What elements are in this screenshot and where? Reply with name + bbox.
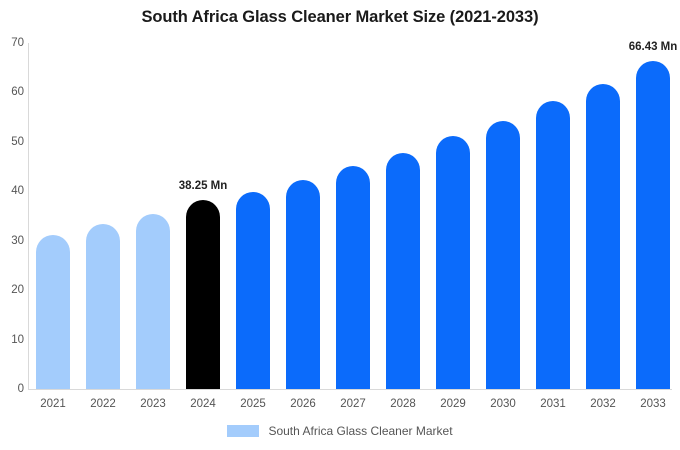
- bar-2028[interactable]: [386, 153, 420, 389]
- bar-2021[interactable]: [36, 235, 70, 389]
- x-axis-tick-label: 2029: [428, 398, 478, 410]
- y-axis-tick-label: 10: [0, 334, 24, 346]
- x-axis-tick-label: 2022: [78, 398, 128, 410]
- y-axis-tick-label: 70: [0, 37, 24, 49]
- chart-title: South Africa Glass Cleaner Market Size (…: [0, 8, 680, 27]
- x-axis-tick-label: 2033: [628, 398, 678, 410]
- x-axis-tick-label: 2024: [178, 398, 228, 410]
- bar-value-label-2024: 38.25 Mn: [163, 180, 243, 192]
- x-axis-tick-label: 2021: [28, 398, 78, 410]
- y-axis-tick-label: 60: [0, 86, 24, 98]
- bar-2026[interactable]: [286, 180, 320, 389]
- legend-swatch-icon: [227, 425, 259, 437]
- y-axis-tick-label: 20: [0, 284, 24, 296]
- x-axis-tick-label: 2023: [128, 398, 178, 410]
- y-axis-tick-label: 40: [0, 185, 24, 197]
- x-axis-tick-label: 2028: [378, 398, 428, 410]
- bar-2027[interactable]: [336, 166, 370, 389]
- y-axis: 010203040506070: [0, 0, 24, 450]
- bar-2029[interactable]: [436, 136, 470, 389]
- bar-value-label-2033: 66.43 Mn: [613, 41, 680, 53]
- y-axis-tick-label: 50: [0, 136, 24, 148]
- bar-2030[interactable]: [486, 121, 520, 389]
- bar-2033[interactable]: [636, 61, 670, 389]
- x-axis-tick-label: 2032: [578, 398, 628, 410]
- bar-2023[interactable]: [136, 214, 170, 389]
- x-axis-line: [28, 389, 672, 390]
- x-axis-tick-label: 2025: [228, 398, 278, 410]
- x-axis-tick-label: 2031: [528, 398, 578, 410]
- x-axis-tick-label: 2030: [478, 398, 528, 410]
- legend-label: South Africa Glass Cleaner Market: [268, 424, 452, 438]
- x-axis-tick-label: 2026: [278, 398, 328, 410]
- bar-2025[interactable]: [236, 192, 270, 389]
- bar-2024[interactable]: [186, 200, 220, 389]
- bar-chart: South Africa Glass Cleaner Market Size (…: [0, 0, 680, 450]
- x-axis-tick-label: 2027: [328, 398, 378, 410]
- bar-2032[interactable]: [586, 84, 620, 389]
- chart-legend: South Africa Glass Cleaner Market: [0, 424, 680, 438]
- bar-2022[interactable]: [86, 224, 120, 389]
- y-axis-tick-label: 0: [0, 383, 24, 395]
- bars-layer: [28, 43, 672, 389]
- bar-2031[interactable]: [536, 101, 570, 389]
- y-axis-tick-label: 30: [0, 235, 24, 247]
